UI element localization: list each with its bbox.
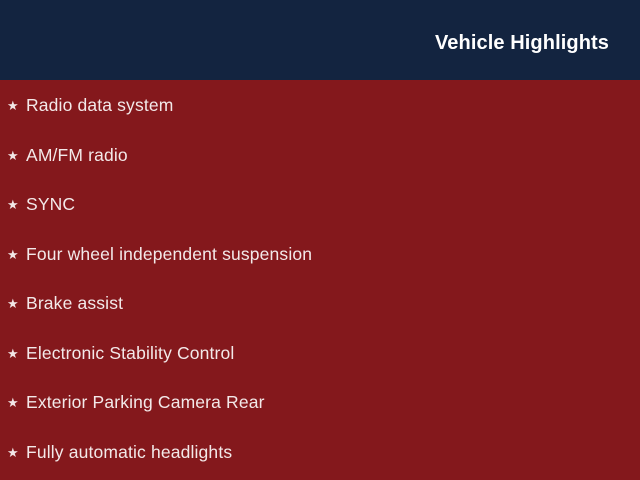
list-item: ★ Exterior Parking Camera Rear — [0, 388, 640, 418]
star-bullet-icon: ★ — [7, 100, 26, 113]
list-item: ★ Electronic Stability Control — [0, 339, 640, 369]
list-item: ★ SYNC — [0, 190, 640, 220]
list-item: ★ Four wheel independent suspension — [0, 240, 640, 270]
highlight-label: Brake assist — [26, 295, 123, 313]
vehicle-highlights-slide: Vehicle Highlights ★ Radio data system ★… — [0, 0, 640, 480]
highlight-label: Exterior Parking Camera Rear — [26, 394, 265, 412]
page-title: Vehicle Highlights — [435, 33, 609, 53]
highlight-label: AM/FM radio — [26, 147, 128, 165]
star-bullet-icon: ★ — [7, 397, 26, 410]
list-item: ★ Brake assist — [0, 289, 640, 319]
star-bullet-icon: ★ — [7, 150, 26, 163]
highlights-body: ★ Radio data system ★ AM/FM radio ★ SYNC… — [0, 80, 640, 480]
star-bullet-icon: ★ — [7, 298, 26, 311]
highlight-label: Radio data system — [26, 97, 173, 115]
list-item: ★ Radio data system — [0, 91, 640, 121]
star-bullet-icon: ★ — [7, 447, 26, 460]
list-item: ★ Fully automatic headlights — [0, 438, 640, 468]
star-bullet-icon: ★ — [7, 249, 26, 262]
highlight-label: Electronic Stability Control — [26, 345, 234, 363]
highlight-label: Fully automatic headlights — [26, 444, 232, 462]
list-item: ★ AM/FM radio — [0, 141, 640, 171]
header-band: Vehicle Highlights — [0, 0, 640, 80]
highlight-label: SYNC — [26, 196, 75, 214]
star-bullet-icon: ★ — [7, 199, 26, 212]
highlight-label: Four wheel independent suspension — [26, 246, 312, 264]
star-bullet-icon: ★ — [7, 348, 26, 361]
